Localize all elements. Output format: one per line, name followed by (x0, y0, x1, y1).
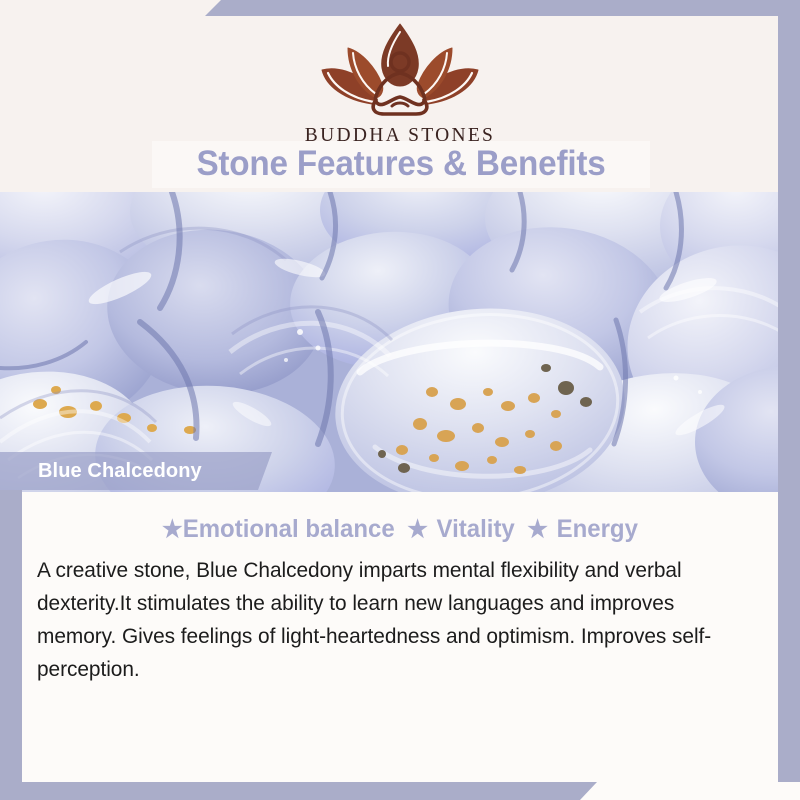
stone-photo (0, 192, 800, 492)
benefits-list: ★Emotional balance★Vitality★Energy (16, 515, 784, 544)
star-icon: ★ (407, 516, 428, 543)
lotus-meditation-figure-icon (0, 18, 800, 123)
title-panel: Stone Features & Benefits (152, 141, 650, 188)
benefit-item-emotional-balance: Emotional balance (183, 515, 395, 543)
content-section: ★Emotional balance★Vitality★Energy A cre… (0, 492, 800, 800)
stone-name-caption: Blue Chalcedony (38, 452, 202, 490)
star-icon: ★ (162, 516, 183, 543)
brand-logo: BUDDHA STONES (0, 18, 800, 147)
star-icon: ★ (527, 516, 548, 543)
benefit-item-energy: Energy (557, 515, 638, 543)
frame-right-accent (778, 16, 800, 782)
poster-root: BUDDHA STONES Stone Features & Benefits (0, 0, 800, 800)
page-title: Stone Features & Benefits (164, 141, 637, 188)
frame-left-accent (0, 490, 22, 782)
benefit-item-vitality: Vitality (437, 515, 515, 543)
stone-description: A creative stone, Blue Chalcedony impart… (37, 554, 722, 686)
